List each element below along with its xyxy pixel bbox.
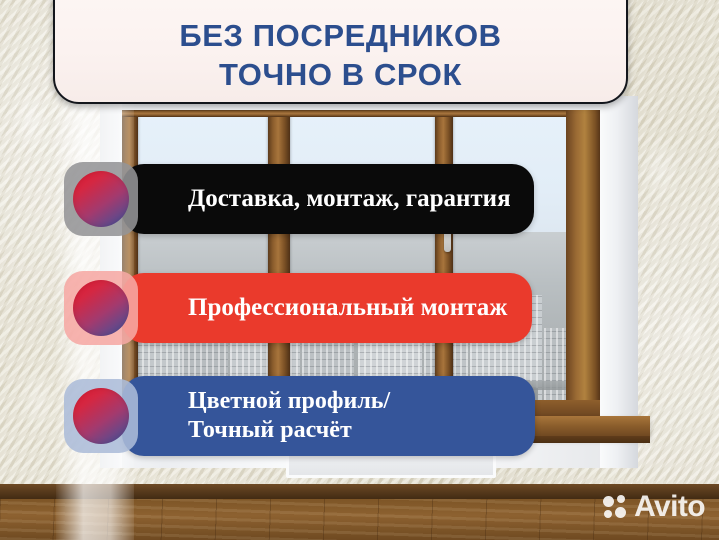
window-reveal-right (600, 96, 638, 468)
feature-label: Цветной профиль/ Точный расчёт (122, 387, 410, 446)
avito-watermark: Avito (603, 492, 705, 522)
gradient-circle-icon (73, 171, 129, 227)
avito-dots-logo-icon (603, 495, 629, 520)
advertisement-banner: БЕЗ ПОСРЕДНИКОВ ТОЧНО В СРОК Доставка, м… (0, 0, 719, 540)
headline-banner: БЕЗ ПОСРЕДНИКОВ ТОЧНО В СРОК (53, 0, 628, 104)
feature-badge-installation: Профессиональный монтаж (64, 265, 534, 351)
avito-wordmark: Avito (634, 492, 705, 522)
feature-pill: Доставка, монтаж, гарантия (122, 164, 534, 234)
gradient-circle-icon (73, 280, 129, 336)
feature-pill: Цветной профиль/ Точный расчёт (122, 376, 535, 456)
feature-pill: Профессиональный монтаж (122, 273, 532, 343)
feature-badge-delivery: Доставка, монтаж, гарантия (64, 156, 534, 242)
feature-icon-chip (64, 379, 138, 453)
feature-icon-chip (64, 271, 138, 345)
feature-badge-profile-calculation: Цветной профиль/ Точный расчёт (64, 368, 534, 464)
gradient-circle-icon (73, 388, 129, 444)
headline-line-2: ТОЧНО В СРОК (219, 55, 462, 94)
feature-label: Доставка, монтаж, гарантия (122, 184, 531, 214)
headline-line-1: БЕЗ ПОСРЕДНИКОВ (179, 16, 501, 55)
feature-icon-chip (64, 162, 138, 236)
feature-label: Профессиональный монтаж (122, 293, 527, 323)
window-frame-right (566, 110, 600, 416)
